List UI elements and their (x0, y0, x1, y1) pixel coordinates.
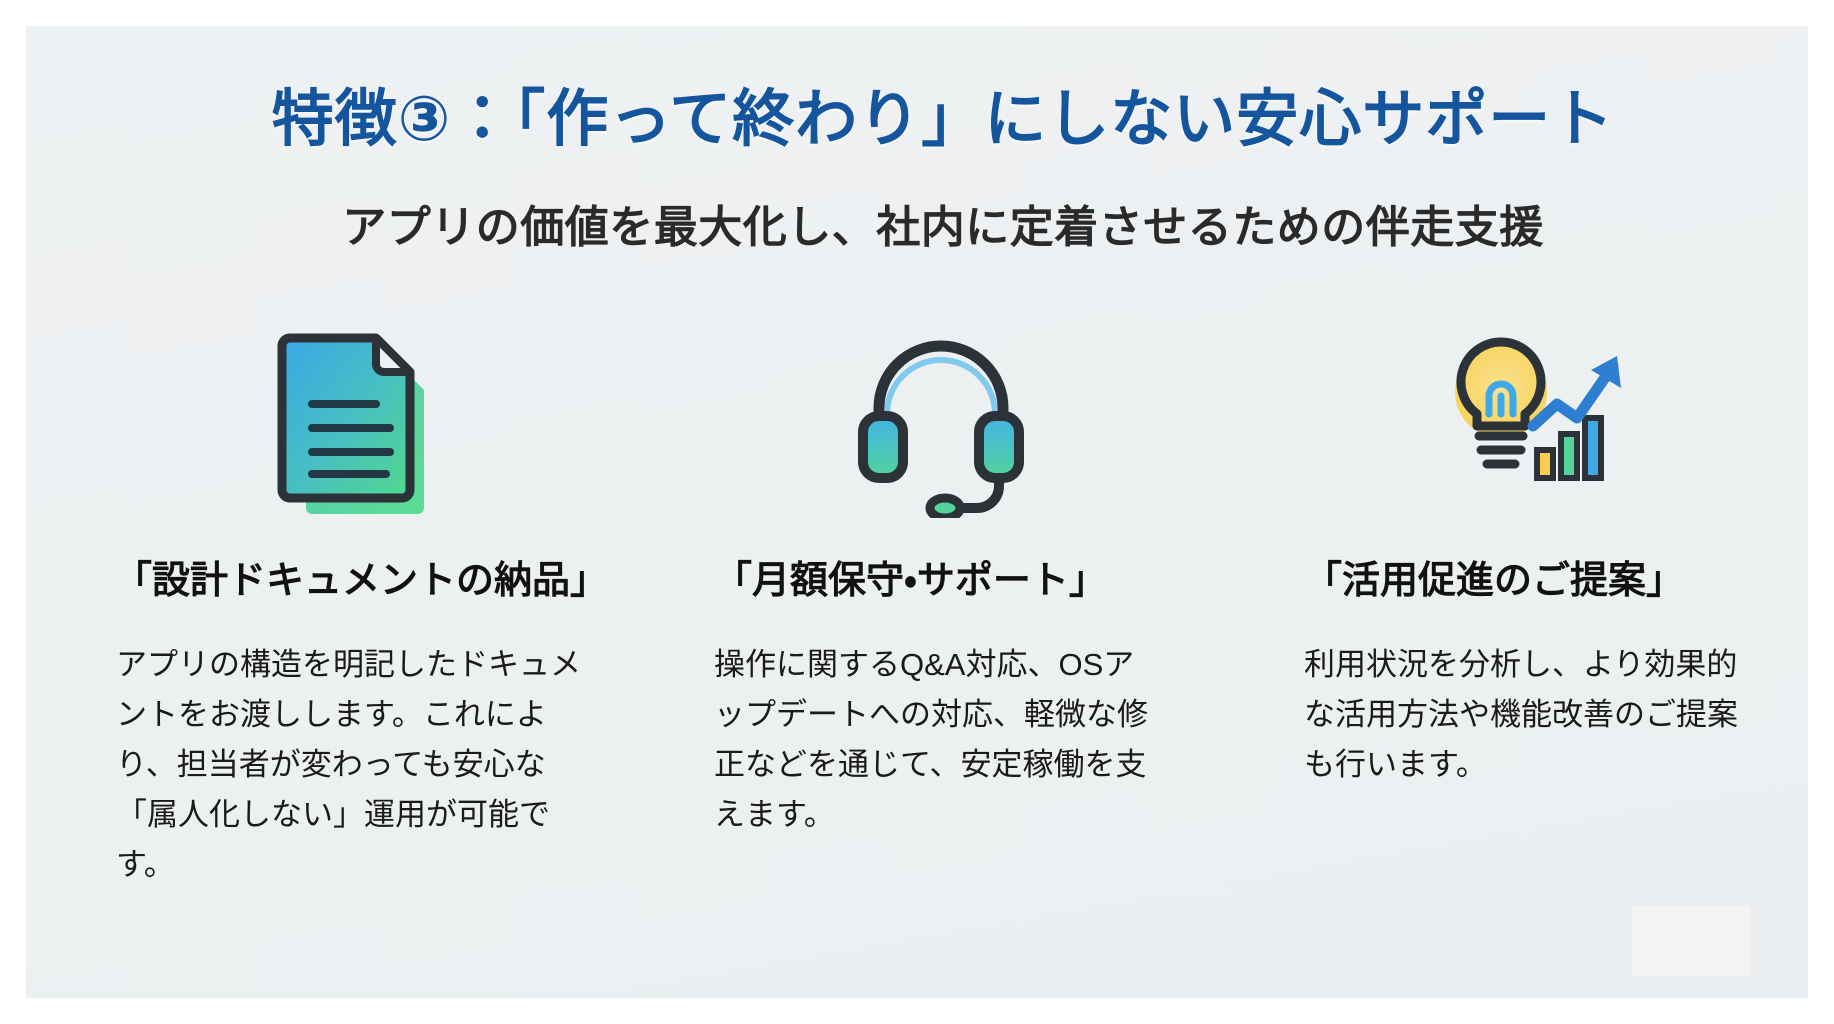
slide-panel: 特徴③：「作って終わり」にしない安心サポート アプリの価値を最大化し、社内に定着… (26, 26, 1808, 998)
card-body: アプリの構造を明記したドキュメントをお渡しします。これにより、担当者が変わっても… (116, 640, 586, 891)
background-artifact (1632, 906, 1750, 976)
feature-card: 「設計ドキュメントの納品」 アプリの構造を明記したドキュメントをお渡しします。こ… (106, 318, 596, 891)
document-icon (106, 318, 596, 518)
card-body: 操作に関するQ&A対応、OSアップデートへの対応、軽微な修正などを通じて、安定稼… (714, 640, 1164, 841)
card-heading: 「月額保守・サポート」 (714, 558, 1107, 606)
lightbulb-growth-chart-icon (1286, 318, 1776, 518)
page-title: 特徴③：「作って終わり」にしない安心サポート (26, 86, 1834, 154)
slide-root: 特徴③：「作って終わり」にしない安心サポート アプリの価値を最大化し、社内に定着… (0, 0, 1834, 1024)
card-heading: 「活用促進のご提案」 (1304, 558, 1684, 606)
card-heading: 「設計ドキュメントの納品」 (114, 558, 608, 606)
card-body: 利用状況を分析し、より効果的な活用方法や機能改善のご提案も行います。 (1304, 640, 1754, 791)
feature-card: 「活用促進のご提案」 利用状況を分析し、より効果的な活用方法や機能改善のご提案も… (1286, 318, 1776, 790)
feature-card: 「月額保守・サポート」 操作に関するQ&A対応、OSアップデートへの対応、軽微な… (696, 318, 1186, 840)
feature-cards: 「設計ドキュメントの納品」 アプリの構造を明記したドキュメントをお渡しします。こ… (106, 318, 1786, 891)
page-subtitle: アプリの価値を最大化し、社内に定着させるための伴走支援 (26, 202, 1834, 255)
headset-support-icon (696, 318, 1186, 518)
